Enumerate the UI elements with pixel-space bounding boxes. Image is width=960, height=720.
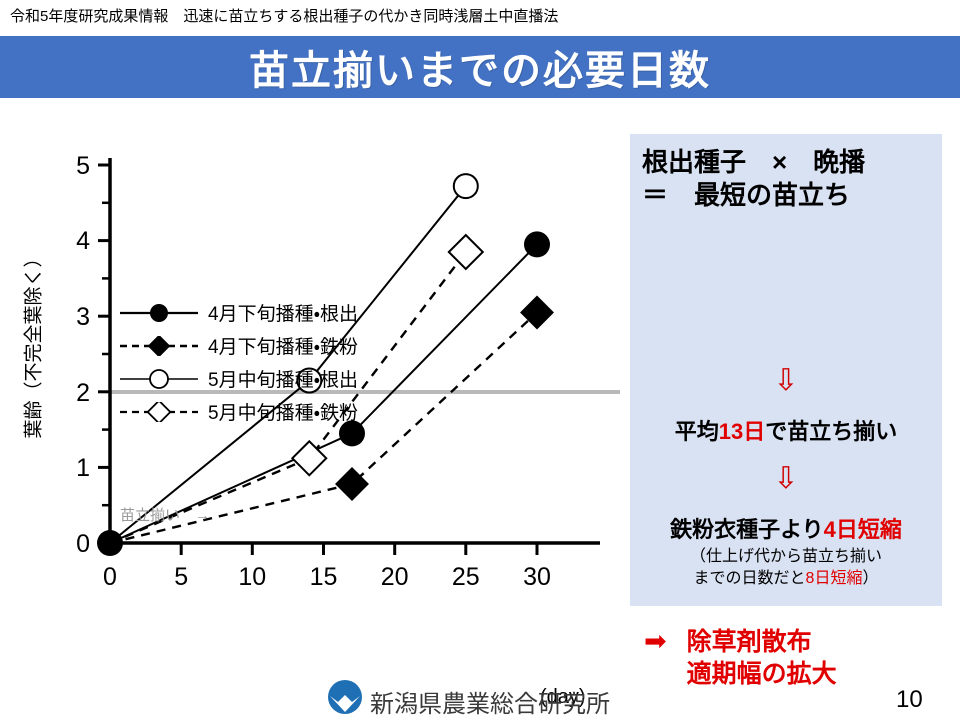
chart-legend: 4月下旬播種・根出 4月下旬播種・鉄粉 5月: [118, 296, 418, 428]
y-tick-0: 0: [76, 530, 90, 558]
y-tick-4: 4: [76, 227, 90, 255]
panel-subnote-line2-value: 8日短縮: [806, 570, 863, 587]
legend-item-apr-tetsufun: 4月下旬播種・鉄粉: [118, 329, 418, 362]
panel-result-days-suffix: で苗立ち揃い: [765, 419, 897, 444]
y-tick-5: 5: [76, 152, 90, 180]
panel-result-days-prefix: 平均: [675, 419, 719, 444]
y-tick-3: 3: [76, 303, 90, 331]
threshold-annotation: 苗立揃い →: [120, 504, 210, 525]
x-tick-15: 15: [310, 563, 338, 591]
x-axis-ticks: [110, 543, 537, 555]
x-tick-5: 5: [174, 563, 188, 591]
legend-item-may-nede: 5月中旬播種・根出: [118, 362, 418, 395]
legend-item-apr-nede: 4月下旬播種・根出: [118, 296, 418, 329]
x-tick-10: 10: [238, 563, 266, 591]
x-tick-20: 20: [381, 563, 409, 591]
panel-conclusion-text: 除草剤散布 適期幅の拡大: [687, 626, 837, 690]
panel-subnote-line2-suffix: ）: [862, 570, 878, 587]
panel-subnote: （仕上げ代から苗立ち揃い までの日数だと8日短縮）: [630, 546, 942, 589]
summary-panel: 根出種子 × 晩播 ＝ 最短の苗立ち ⇩ 平均13日で苗立ち揃い ⇩ 鉄粉衣種子…: [630, 134, 942, 606]
legend-label-apr-tetsufun: 4月下旬播種・鉄粉: [208, 332, 358, 359]
panel-result-days: 平均13日で苗立ち揃い: [630, 414, 942, 446]
panel-comparison-prefix: 鉄粉衣種子より: [670, 517, 824, 542]
y-tick-labels: 0 1 2 3 4 5: [76, 152, 90, 558]
y-axis-title: 葉齢（不完全葉除く）: [19, 204, 46, 484]
slide-root: 令和5年度研究成果情報 迅速に苗立ちする根出種子の代かき同時浅層土中直播法 苗立…: [0, 0, 960, 720]
panel-comparison-value: 4日短縮: [824, 517, 902, 542]
y-tick-1: 1: [76, 454, 90, 482]
legend-label-may-nede: 5月中旬播種・根出: [208, 365, 358, 392]
x-tick-25: 25: [452, 563, 480, 591]
legend-label-apr-nede: 4月下旬播種・根出: [208, 299, 358, 326]
page-number: 10: [896, 686, 923, 714]
x-tick-0: 0: [103, 563, 117, 591]
title-band: 苗立揃いまでの必要日数: [0, 36, 960, 98]
page-title: 苗立揃いまでの必要日数: [0, 36, 960, 98]
panel-headline-line1: 根出種子 × 晩播: [642, 146, 942, 179]
chart-container: 0 1 2 3 4 5 0 5 10 15: [0, 130, 620, 600]
panel-subnote-line2: までの日数だと8日短縮）: [630, 568, 942, 590]
panel-conclusion-line2: 適期幅の拡大: [687, 658, 837, 690]
y-tick-2: 2: [76, 379, 90, 407]
down-arrow-2-icon: ⇩: [630, 464, 942, 494]
down-arrow-1-icon: ⇩: [630, 366, 942, 396]
niigata-mountain-logo-icon: [327, 679, 363, 715]
legend-key-open-circle-solid-icon: [118, 369, 200, 389]
panel-subnote-line2-prefix: までの日数だと: [694, 570, 806, 587]
panel-conclusion: ➡ 除草剤散布 適期幅の拡大: [630, 626, 942, 690]
x-tick-labels: 0 5 10 15 20 25 30: [103, 563, 551, 591]
legend-item-may-tetsufun: 5月中旬播種・鉄粉: [118, 395, 418, 428]
legend-key-open-diamond-dashed-icon: [118, 402, 200, 422]
header-note: 令和5年度研究成果情報 迅速に苗立ちする根出種子の代かき同時浅層土中直播法: [10, 5, 558, 26]
legend-label-may-tetsufun: 5月中旬播種・鉄粉: [208, 398, 358, 425]
panel-subnote-line1: （仕上げ代から苗立ち揃い: [630, 546, 942, 568]
legend-key-filled-diamond-dashed-icon: [118, 336, 200, 356]
panel-headline: 根出種子 × 晩播 ＝ 最短の苗立ち: [630, 146, 942, 213]
panel-result-days-value: 13日: [719, 419, 765, 444]
right-arrow-icon: ➡: [644, 628, 667, 655]
panel-comparison: 鉄粉衣種子より4日短縮: [630, 512, 942, 544]
legend-key-filled-circle-solid-icon: [118, 303, 200, 323]
panel-headline-line2: ＝ 最短の苗立ち: [642, 179, 942, 212]
panel-conclusion-line1: 除草剤散布: [687, 626, 837, 658]
footer-organization: 新潟県農業総合研究所: [370, 684, 610, 719]
x-tick-30: 30: [523, 563, 551, 591]
